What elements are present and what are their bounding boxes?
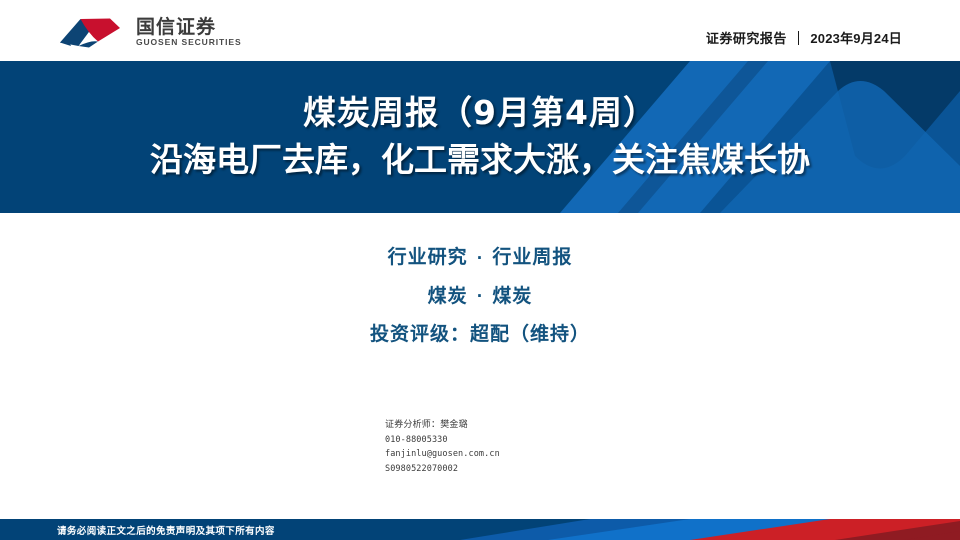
sector-label-secondary: 煤炭 <box>492 285 532 307</box>
brand-name-cn: 国信证券 <box>136 17 242 37</box>
analyst-phone: 010-88005330 <box>385 433 500 448</box>
separator-dot-1: · <box>468 239 493 277</box>
banner-title-line-2: 沿海电厂去库，化工需求大涨，关注焦煤长协 <box>150 137 810 183</box>
brand-logo-text: 国信证券 GUOSEN SECURITIES <box>136 17 242 47</box>
footer-disclaimer: 请务必阅读正文之后的免责声明及其项下所有内容 <box>57 519 275 540</box>
separator-dot-2: · <box>468 277 493 315</box>
investment-rating-line: 投资评级：超配（维持） <box>0 315 960 353</box>
sector-line: 煤炭·煤炭 <box>0 277 960 316</box>
guosen-swoosh-logo-icon <box>58 16 130 48</box>
brand-name-en: GUOSEN SECURITIES <box>136 37 242 47</box>
report-classification-block: 行业研究·行业周报 煤炭·煤炭 投资评级：超配（维持） <box>0 238 960 353</box>
report-date: 2023年9月24日 <box>810 28 902 47</box>
industry-research-line: 行业研究·行业周报 <box>0 238 960 277</box>
analyst-license-number: S0980522070002 <box>385 462 500 477</box>
header-meta: 证券研究报告 2023年9月24日 <box>706 28 902 47</box>
analyst-name: 证券分析师：樊金璐 <box>385 418 500 433</box>
banner-title-group: 煤炭周报（9月第4周） 沿海电厂去库，化工需求大涨，关注焦煤长协 <box>0 61 960 213</box>
title-banner: 煤炭周报（9月第4周） 沿海电厂去库，化工需求大涨，关注焦煤长协 <box>0 61 960 213</box>
page-footer: 请务必阅读正文之后的免责声明及其项下所有内容 <box>0 519 960 540</box>
sector-label-primary: 煤炭 <box>428 285 468 307</box>
industry-weekly-label: 行业周报 <box>492 246 572 268</box>
industry-research-label: 行业研究 <box>388 246 468 268</box>
header-divider <box>798 31 800 45</box>
report-type-label: 证券研究报告 <box>706 28 787 47</box>
page-header: 国信证券 GUOSEN SECURITIES 证券研究报告 2023年9月24日 <box>0 0 960 61</box>
banner-title-line-1: 煤炭周报（9月第4周） <box>303 91 657 135</box>
analyst-info-block: 证券分析师：樊金璐 010-88005330 fanjinlu@guosen.c… <box>385 418 500 476</box>
brand-logo: 国信证券 GUOSEN SECURITIES <box>58 17 242 47</box>
analyst-email[interactable]: fanjinlu@guosen.com.cn <box>385 447 500 462</box>
